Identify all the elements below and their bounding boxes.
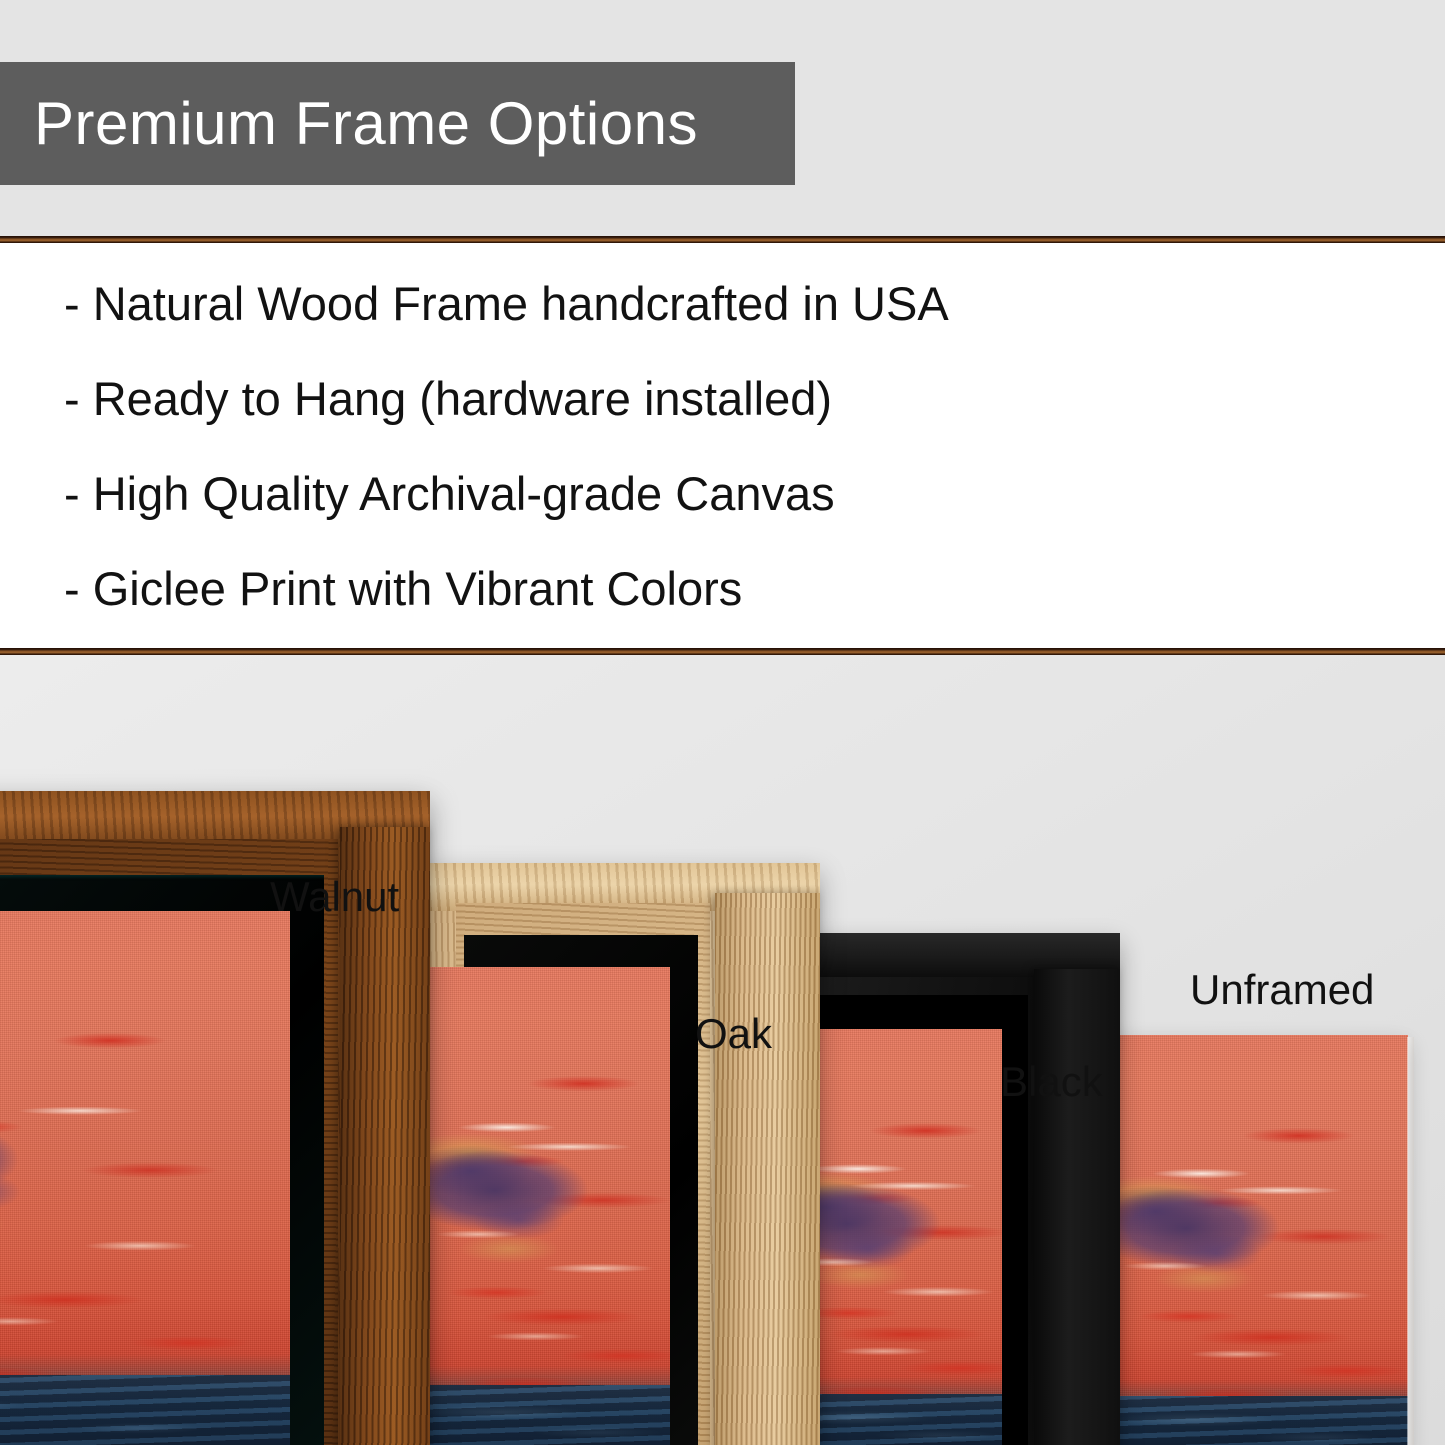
oak-frame-side-profile: [715, 893, 820, 1445]
divider-bottom: [0, 648, 1445, 655]
features-list: - Natural Wood Frame handcrafted in USA …: [0, 243, 1445, 648]
frame-option-unframed[interactable]: Unframed: [1104, 1035, 1414, 1445]
frame-label-oak: Oak: [695, 1013, 772, 1055]
artwork-canvas-walnut: [0, 911, 290, 1445]
feature-item: - High Quality Archival-grade Canvas: [64, 446, 1445, 541]
canvas-edge: [1407, 1037, 1414, 1445]
divider-top: [0, 236, 1445, 243]
artwork-canvas-unframed: [1104, 1035, 1408, 1445]
page-title: Premium Frame Options: [0, 94, 698, 154]
feature-item: - Ready to Hang (hardware installed): [64, 351, 1445, 446]
frame-option-oak[interactable]: Oak: [420, 863, 820, 1445]
page-title-box: Premium Frame Options: [0, 62, 795, 185]
artwork-canvas-black: [790, 1029, 1002, 1445]
feature-item: - Natural Wood Frame handcrafted in USA: [64, 256, 1445, 351]
black-frame-side-profile: [1034, 969, 1120, 1445]
header-band: Premium Frame Options: [0, 0, 1445, 236]
frame-label-unframed: Unframed: [1190, 969, 1374, 1011]
feature-item: - Giclee Print with Vibrant Colors: [64, 541, 1445, 636]
frame-showcase: Unframed Black Oak Walnut: [0, 655, 1445, 1445]
frame-option-walnut[interactable]: Walnut: [0, 791, 430, 1445]
frame-label-black: Black: [1000, 1061, 1103, 1103]
artwork-canvas-oak: [430, 967, 670, 1445]
frame-option-black[interactable]: Black: [790, 933, 1120, 1445]
frame-label-walnut: Walnut: [270, 876, 399, 918]
